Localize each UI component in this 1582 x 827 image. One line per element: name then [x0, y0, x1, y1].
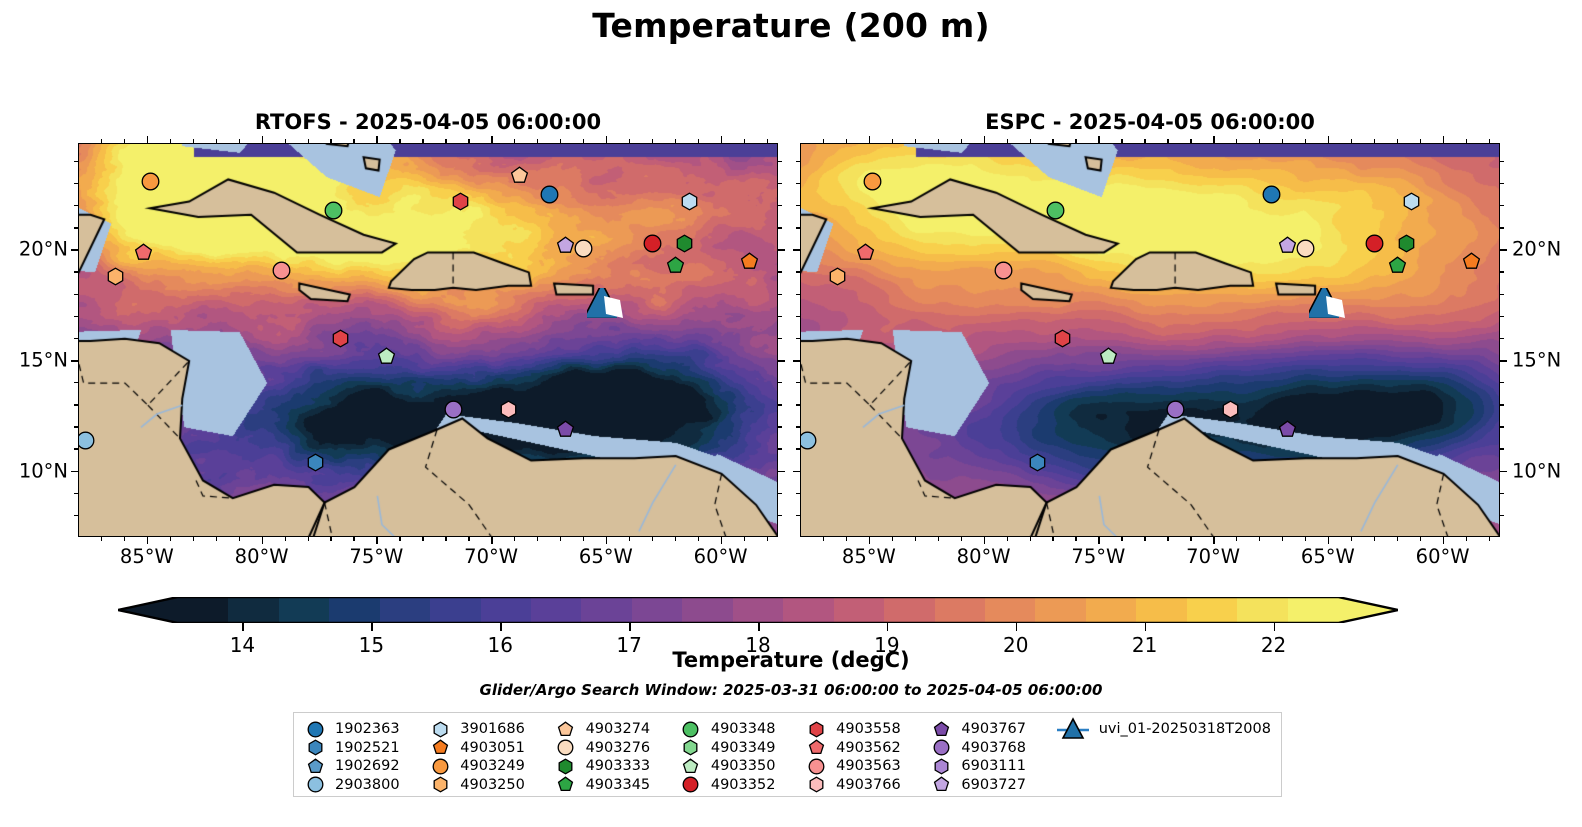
ytick-minor-left-espc: [796, 426, 800, 427]
map-marker-float[interactable]: [994, 261, 1013, 280]
colorbar-tick: [371, 623, 373, 631]
hexagon-marker-icon: [429, 720, 451, 738]
ytick-minor-left-rtofs: [74, 316, 78, 317]
xtick-minor-espc: [961, 537, 962, 541]
map-marker-float[interactable]: [675, 234, 694, 253]
xtick-label-rtofs-5: 60°W: [694, 545, 748, 568]
xtick-major-top-rtofs: [262, 136, 264, 143]
colorbar-tick: [758, 623, 760, 631]
xtick-minor-rtofs: [216, 537, 217, 541]
legend-item-label: 4903348: [711, 721, 776, 737]
ytick-minor-left-espc: [796, 294, 800, 295]
xtick-minor-rtofs: [353, 537, 354, 541]
xtick-minor-rtofs: [193, 537, 194, 541]
legend-item-label: 4903352: [711, 777, 776, 793]
xtick-major-top-espc: [984, 136, 986, 143]
map-marker-float[interactable]: [1053, 329, 1072, 348]
legend-item[interactable]: 3901686: [429, 720, 554, 739]
hexagon-marker-icon: [805, 776, 827, 794]
xtick-minor-top-espc: [1259, 139, 1260, 143]
xtick-minor-rtofs: [698, 537, 699, 541]
legend-item[interactable]: 4903768: [930, 739, 1055, 758]
ytick-minor-right-rtofs: [778, 271, 782, 272]
xtick-minor-top-rtofs: [170, 139, 171, 143]
ytick-minor-left-espc: [796, 493, 800, 494]
ytick-minor-left-rtofs: [74, 183, 78, 184]
legend-item[interactable]: 4903051: [429, 739, 554, 758]
panel-title-espc: ESPC - 2025-04-05 06:00:00: [800, 110, 1500, 134]
map-marker-float[interactable]: [78, 431, 95, 450]
legend-item-label: 4903766: [836, 777, 901, 793]
xtick-major-top-espc: [869, 136, 871, 143]
ytick-minor-right-rtofs: [778, 493, 782, 494]
xtick-minor-espc: [1144, 537, 1145, 541]
xtick-minor-rtofs: [767, 537, 768, 541]
ytick-minor-left-rtofs: [74, 404, 78, 405]
xtick-minor-espc: [1121, 537, 1122, 541]
xtick-minor-espc: [1007, 537, 1008, 541]
legend-item[interactable]: 6903111: [930, 757, 1055, 776]
xtick-minor-top-espc: [1052, 139, 1053, 143]
ytick-minor-right-espc: [1500, 493, 1504, 494]
map-marker-float[interactable]: [272, 261, 291, 280]
ytick-minor-left-espc: [796, 515, 800, 516]
xtick-minor-rtofs: [537, 537, 538, 541]
legend-item-label: 4903276: [586, 740, 651, 756]
ytick-minor-left-rtofs: [74, 271, 78, 272]
hexagon-marker-icon: [805, 720, 827, 738]
xtick-minor-top-rtofs: [124, 139, 125, 143]
legend-item-label: 4903767: [961, 721, 1026, 737]
ytick-major-right-espc: [1500, 471, 1507, 473]
ytick-minor-left-rtofs: [74, 227, 78, 228]
pentagon-marker-icon: [930, 720, 952, 738]
xtick-major-top-rtofs: [376, 136, 378, 143]
legend-item[interactable]: 4903767: [930, 720, 1055, 739]
map-panel-rtofs[interactable]: [78, 143, 778, 537]
legend-item-label: 1902363: [335, 721, 400, 737]
xtick-minor-top-rtofs: [468, 139, 469, 143]
map-marker-float[interactable]: [540, 185, 559, 204]
ytick-minor-right-espc: [1500, 426, 1504, 427]
legend-item-label: 1902521: [335, 740, 400, 756]
xtick-major-top-rtofs: [721, 136, 723, 143]
xtick-minor-espc: [1167, 537, 1168, 541]
ytick-minor-left-rtofs: [74, 493, 78, 494]
colorbar-tick: [1274, 623, 1276, 631]
circle-marker-icon: [555, 739, 577, 757]
hexagon-marker-icon: [429, 776, 451, 794]
glider-track: [604, 294, 634, 324]
ytick-minor-left-rtofs: [74, 205, 78, 206]
xtick-minor-top-espc: [1030, 139, 1031, 143]
xtick-minor-top-rtofs: [744, 139, 745, 143]
ytick-minor-right-rtofs: [778, 426, 782, 427]
xtick-minor-espc: [1466, 537, 1467, 541]
pentagon-marker-icon: [555, 776, 577, 794]
map-marker-float[interactable]: [1296, 239, 1315, 258]
xtick-major-espc: [1443, 537, 1445, 544]
xtick-minor-espc: [892, 537, 893, 541]
map-marker-float[interactable]: [740, 252, 759, 271]
ytick-major-left-rtofs: [71, 249, 78, 251]
xtick-minor-top-espc: [1121, 139, 1122, 143]
xtick-minor-rtofs: [744, 537, 745, 541]
legend-item[interactable]: 1902521: [304, 739, 429, 758]
colorbar[interactable]: 141516171819202122: [118, 597, 1398, 623]
glider-marker-icon: [1056, 720, 1090, 738]
xtick-major-rtofs: [147, 537, 149, 544]
map-marker-float[interactable]: [666, 256, 685, 275]
ytick-minor-right-rtofs: [778, 448, 782, 449]
xtick-label-espc-4: 65°W: [1301, 545, 1355, 568]
legend-item[interactable]: 4903558: [805, 720, 930, 739]
map-marker-float[interactable]: [377, 347, 396, 366]
map-marker-float[interactable]: [1099, 347, 1118, 366]
ytick-minor-right-espc: [1500, 382, 1504, 383]
ytick-minor-left-espc: [796, 404, 800, 405]
legend-item-label: 4903345: [586, 777, 651, 793]
xtick-minor-espc: [938, 537, 939, 541]
map-marker-float[interactable]: [1388, 256, 1407, 275]
xtick-minor-top-rtofs: [629, 139, 630, 143]
ytick-minor-right-espc: [1500, 161, 1504, 162]
xtick-minor-espc: [1282, 537, 1283, 541]
xtick-minor-rtofs: [330, 537, 331, 541]
legend-item[interactable]: 4903766: [805, 776, 930, 795]
map-marker-float[interactable]: [451, 192, 470, 211]
ytick-label-left-1: 15°N: [0, 348, 68, 371]
ytick-minor-left-espc: [796, 448, 800, 449]
legend-item-label: 4903333: [586, 758, 651, 774]
colorbar-tick: [242, 623, 244, 631]
legend-item-label: uvi_01-20250318T2008: [1099, 721, 1271, 737]
xtick-minor-top-espc: [1190, 139, 1191, 143]
pentagon-marker-icon: [930, 776, 952, 794]
legend-item[interactable]: 4903349: [680, 739, 805, 758]
legend-item-label: 4903563: [836, 758, 901, 774]
map-marker-float[interactable]: [1046, 201, 1065, 220]
xtick-minor-espc: [1397, 537, 1398, 541]
legend-item[interactable]: 1902363: [304, 720, 429, 739]
map-marker-float[interactable]: [1028, 453, 1047, 472]
ytick-minor-right-espc: [1500, 316, 1504, 317]
map-marker-float[interactable]: [1221, 400, 1240, 419]
xtick-major-rtofs: [376, 537, 378, 544]
legend-item[interactable]: 4903274: [555, 720, 680, 739]
xtick-major-top-espc: [1213, 136, 1215, 143]
legend-item-label: 4903562: [836, 740, 901, 756]
colorbar-tick: [1145, 623, 1147, 631]
xtick-minor-top-espc: [1420, 139, 1421, 143]
xtick-minor-top-rtofs: [514, 139, 515, 143]
legend-item-label: 6903111: [961, 758, 1026, 774]
map-marker-float[interactable]: [680, 192, 699, 211]
ytick-minor-left-espc: [796, 227, 800, 228]
ytick-minor-right-espc: [1500, 404, 1504, 405]
xtick-minor-top-rtofs: [583, 139, 584, 143]
xtick-minor-rtofs: [560, 537, 561, 541]
ytick-minor-left-espc: [796, 271, 800, 272]
xtick-minor-rtofs: [285, 537, 286, 541]
ytick-label-right-1: 15°N: [1512, 348, 1561, 371]
legend-item[interactable]: 6903727: [930, 776, 1055, 795]
map-marker-float[interactable]: [1278, 420, 1297, 439]
ytick-major-right-rtofs: [778, 249, 785, 251]
ytick-label-right-2: 20°N: [1512, 238, 1561, 261]
xtick-minor-top-espc: [1351, 139, 1352, 143]
xtick-minor-espc: [1030, 537, 1031, 541]
ytick-minor-right-rtofs: [778, 382, 782, 383]
xtick-minor-top-espc: [1397, 139, 1398, 143]
legend-item-label: 4903558: [836, 721, 901, 737]
xtick-minor-top-rtofs: [422, 139, 423, 143]
xtick-major-top-rtofs: [491, 136, 493, 143]
map-marker-float[interactable]: [1262, 185, 1281, 204]
xtick-minor-espc: [846, 537, 847, 541]
legend-item[interactable]: uvi_01-20250318T2008: [1056, 720, 1271, 739]
map-marker-float[interactable]: [1402, 192, 1421, 211]
ytick-minor-right-rtofs: [778, 515, 782, 516]
ytick-minor-left-espc: [796, 382, 800, 383]
xtick-minor-espc: [1052, 537, 1053, 541]
map-marker-float[interactable]: [324, 201, 343, 220]
xtick-minor-top-espc: [1282, 139, 1283, 143]
xtick-major-rtofs: [491, 537, 493, 544]
xtick-minor-espc: [1489, 537, 1490, 541]
colorbar-outline: [118, 597, 1398, 623]
ytick-label-left-0: 10°N: [0, 459, 68, 482]
ytick-minor-right-rtofs: [778, 205, 782, 206]
circle-marker-icon: [930, 739, 952, 757]
legend-item[interactable]: 2903800: [304, 776, 429, 795]
xtick-minor-top-rtofs: [698, 139, 699, 143]
temperature-field-rtofs: [79, 144, 778, 537]
legend-item[interactable]: 4903276: [555, 739, 680, 758]
xtick-minor-rtofs: [675, 537, 676, 541]
circle-marker-icon: [304, 720, 326, 738]
map-marker-float[interactable]: [510, 166, 529, 185]
xtick-minor-top-rtofs: [101, 139, 102, 143]
xtick-minor-espc: [1236, 537, 1237, 541]
map-marker-float[interactable]: [556, 420, 575, 439]
map-marker-float[interactable]: [1462, 252, 1481, 271]
ytick-major-left-espc: [793, 249, 800, 251]
legend-item-label: 4903768: [961, 740, 1026, 756]
xtick-minor-top-rtofs: [330, 139, 331, 143]
map-marker-float[interactable]: [643, 234, 662, 253]
map-marker-float[interactable]: [1166, 400, 1185, 419]
xtick-minor-top-espc: [1374, 139, 1375, 143]
map-marker-float[interactable]: [134, 243, 153, 262]
xtick-minor-top-espc: [961, 139, 962, 143]
figure-suptitle: Temperature (200 m): [0, 6, 1582, 45]
xtick-minor-top-espc: [1236, 139, 1237, 143]
ytick-major-left-rtofs: [71, 360, 78, 362]
circle-marker-icon: [680, 776, 702, 794]
xtick-minor-top-espc: [1466, 139, 1467, 143]
xtick-major-espc: [984, 537, 986, 544]
map-marker-float[interactable]: [106, 267, 125, 286]
legend-item[interactable]: 4903333: [555, 757, 680, 776]
ytick-minor-left-rtofs: [74, 294, 78, 295]
circle-marker-icon: [805, 757, 827, 775]
ytick-minor-left-espc: [796, 205, 800, 206]
xtick-major-espc: [869, 537, 871, 544]
map-marker-float[interactable]: [1278, 236, 1297, 255]
xtick-minor-espc: [1075, 537, 1076, 541]
legend-item[interactable]: 4903562: [805, 739, 930, 758]
panel-title-rtofs: RTOFS - 2025-04-05 06:00:00: [78, 110, 778, 134]
xtick-label-espc-5: 60°W: [1416, 545, 1470, 568]
ytick-minor-left-espc: [796, 161, 800, 162]
pentagon-marker-icon: [429, 739, 451, 757]
legend-item[interactable]: 4903352: [680, 776, 805, 795]
ytick-major-right-espc: [1500, 249, 1507, 251]
map-marker-float[interactable]: [574, 239, 593, 258]
pentagon-marker-icon: [304, 757, 326, 775]
xtick-minor-rtofs: [124, 537, 125, 541]
colorbar-tick: [887, 623, 889, 631]
xtick-label-rtofs-1: 80°W: [235, 545, 289, 568]
ytick-minor-right-espc: [1500, 294, 1504, 295]
map-marker-float[interactable]: [331, 329, 350, 348]
map-marker-float[interactable]: [856, 243, 875, 262]
ytick-minor-right-rtofs: [778, 338, 782, 339]
xtick-major-rtofs: [262, 537, 264, 544]
ytick-minor-right-rtofs: [778, 227, 782, 228]
legend-item[interactable]: 4903250: [429, 776, 554, 795]
xtick-minor-top-espc: [1007, 139, 1008, 143]
ytick-major-right-rtofs: [778, 471, 785, 473]
circle-marker-icon: [304, 776, 326, 794]
xtick-major-rtofs: [606, 537, 608, 544]
legend-item[interactable]: 4903249: [429, 757, 554, 776]
xtick-major-top-espc: [1098, 136, 1100, 143]
xtick-minor-top-rtofs: [445, 139, 446, 143]
map-marker-float[interactable]: [828, 267, 847, 286]
xtick-minor-top-rtofs: [399, 139, 400, 143]
legend-item[interactable]: 4903345: [555, 776, 680, 795]
xtick-minor-rtofs: [468, 537, 469, 541]
map-marker-float[interactable]: [306, 453, 325, 472]
ytick-minor-left-espc: [796, 338, 800, 339]
legend-box[interactable]: 1902363190252119026922903800390168649030…: [293, 712, 1282, 797]
legend-item[interactable]: 4903563: [805, 757, 930, 776]
ytick-label-right-0: 10°N: [1512, 459, 1561, 482]
pentagon-marker-icon: [680, 757, 702, 775]
xtick-major-rtofs: [721, 537, 723, 544]
xtick-minor-top-rtofs: [675, 139, 676, 143]
colorbar-tick: [1016, 623, 1018, 631]
map-marker-float[interactable]: [141, 172, 160, 191]
xtick-minor-top-espc: [1075, 139, 1076, 143]
xtick-minor-top-rtofs: [652, 139, 653, 143]
xtick-minor-rtofs: [583, 537, 584, 541]
map-marker-float[interactable]: [1397, 234, 1416, 253]
ytick-major-left-espc: [793, 471, 800, 473]
legend-item-label: 4903249: [460, 758, 525, 774]
xtick-label-espc-1: 80°W: [957, 545, 1011, 568]
xtick-minor-top-rtofs: [308, 139, 309, 143]
xtick-major-top-espc: [1443, 136, 1445, 143]
xtick-minor-rtofs: [445, 537, 446, 541]
legend-item-label: 4903051: [460, 740, 525, 756]
xtick-minor-espc: [1305, 537, 1306, 541]
circle-marker-icon: [680, 720, 702, 738]
xtick-minor-rtofs: [514, 537, 515, 541]
xtick-minor-top-rtofs: [239, 139, 240, 143]
xtick-minor-rtofs: [239, 537, 240, 541]
xtick-minor-rtofs: [422, 537, 423, 541]
xtick-minor-top-rtofs: [216, 139, 217, 143]
xtick-major-espc: [1328, 537, 1330, 544]
xtick-minor-top-espc: [938, 139, 939, 143]
legend-item-label: 4903350: [711, 758, 776, 774]
xtick-label-espc-3: 70°W: [1186, 545, 1240, 568]
hexagon-marker-icon: [304, 739, 326, 757]
ytick-minor-right-espc: [1500, 448, 1504, 449]
xtick-minor-top-rtofs: [193, 139, 194, 143]
xtick-major-top-rtofs: [147, 136, 149, 143]
ytick-minor-right-rtofs: [778, 316, 782, 317]
ytick-minor-left-espc: [796, 183, 800, 184]
xtick-minor-top-rtofs: [537, 139, 538, 143]
map-marker-float[interactable]: [1365, 234, 1384, 253]
legend-item[interactable]: 4903348: [680, 720, 805, 739]
legend-item[interactable]: 4903350: [680, 757, 805, 776]
hexagon-marker-icon: [930, 757, 952, 775]
ytick-minor-left-espc: [796, 316, 800, 317]
map-marker-float[interactable]: [556, 236, 575, 255]
xtick-minor-top-espc: [1167, 139, 1168, 143]
xtick-minor-rtofs: [308, 537, 309, 541]
map-marker-float[interactable]: [499, 400, 518, 419]
xtick-minor-espc: [1351, 537, 1352, 541]
ytick-minor-left-rtofs: [74, 382, 78, 383]
xtick-minor-top-espc: [915, 139, 916, 143]
xtick-label-rtofs-0: 85°W: [120, 545, 174, 568]
map-marker-float[interactable]: [444, 400, 463, 419]
xtick-major-espc: [1213, 537, 1215, 544]
colorbar-tick: [500, 623, 502, 631]
map-marker-float[interactable]: [863, 172, 882, 191]
ytick-minor-right-espc: [1500, 205, 1504, 206]
legend-item-label: 4903250: [460, 777, 525, 793]
xtick-label-espc-2: 75°W: [1071, 545, 1125, 568]
ytick-label-left-2: 20°N: [0, 238, 68, 261]
xtick-minor-espc: [1190, 537, 1191, 541]
xtick-minor-rtofs: [101, 537, 102, 541]
ytick-minor-right-espc: [1500, 227, 1504, 228]
xtick-minor-top-rtofs: [353, 139, 354, 143]
ytick-major-right-rtofs: [778, 360, 785, 362]
ytick-minor-right-rtofs: [778, 161, 782, 162]
colorbar-tick: [629, 623, 631, 631]
xtick-major-espc: [1098, 537, 1100, 544]
xtick-minor-top-espc: [892, 139, 893, 143]
xtick-minor-espc: [1374, 537, 1375, 541]
xtick-minor-rtofs: [629, 537, 630, 541]
legend-item[interactable]: 1902692: [304, 757, 429, 776]
xtick-major-top-rtofs: [606, 136, 608, 143]
legend-item-label: 4903349: [711, 740, 776, 756]
map-marker-float[interactable]: [800, 431, 817, 450]
map-panel-espc[interactable]: [800, 143, 1500, 537]
xtick-minor-top-rtofs: [560, 139, 561, 143]
xtick-label-rtofs-2: 75°W: [349, 545, 403, 568]
ytick-minor-left-rtofs: [74, 338, 78, 339]
